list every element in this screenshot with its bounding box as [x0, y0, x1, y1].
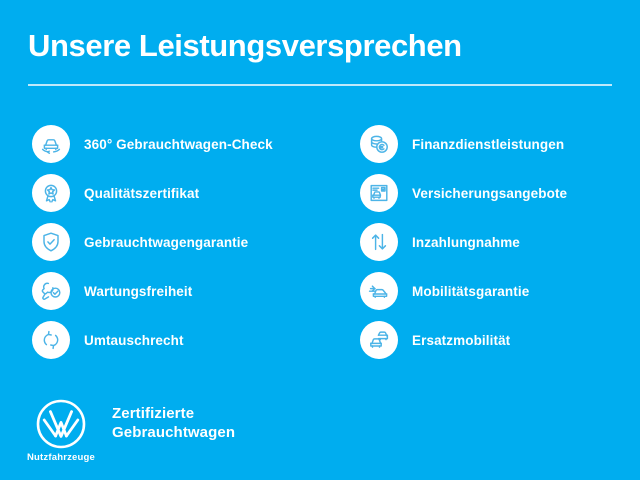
brand-claim-line-2: Gebrauchtwagen: [112, 423, 235, 442]
brand-claim: Zertifizierte Gebrauchtwagen: [112, 404, 235, 442]
title-divider: [28, 84, 612, 86]
feature-label: Finanzdienstleistungen: [412, 137, 564, 152]
feature-label: Versicherungsangebote: [412, 186, 567, 201]
feature-item-trade-in[interactable]: Inzahlungnahme: [360, 222, 567, 262]
feature-item-insurance-offers[interactable]: Versicherungsangebote: [360, 173, 567, 213]
vw-sub-brand-label: Nutzfahrzeuge: [27, 452, 95, 463]
feature-label: Wartungsfreiheit: [84, 284, 192, 299]
shield-check-icon: [32, 223, 70, 261]
feature-item-maintenance-free[interactable]: Wartungsfreiheit: [32, 271, 273, 311]
wrench-check-icon: [32, 272, 70, 310]
feature-item-mobility-guarantee[interactable]: Mobilitätsgarantie: [360, 271, 567, 311]
feature-label: Gebrauchtwagengarantie: [84, 235, 248, 250]
feature-item-financial-services[interactable]: Finanzdienstleistungen: [360, 124, 567, 164]
feature-item-replacement-mobility[interactable]: Ersatzmobilität: [360, 320, 567, 360]
award-rosette-icon: [32, 174, 70, 212]
feature-column-left: 360° Gebrauchtwagen-Check Qualitätszerti…: [32, 124, 273, 369]
brand-lockup: Nutzfahrzeuge Zertifizierte Gebrauchtwag…: [28, 398, 235, 463]
two-cars-icon: [360, 321, 398, 359]
coins-euro-icon: [360, 125, 398, 163]
feature-label: Ersatzmobilität: [412, 333, 510, 348]
volkswagen-logo-icon: [35, 398, 87, 450]
page-title: Unsere Leistungsversprechen: [28, 28, 462, 64]
feature-item-exchange-right[interactable]: Umtauschrecht: [32, 320, 273, 360]
feature-label: Qualitätszertifikat: [84, 186, 199, 201]
promise-slide: Unsere Leistungsversprechen 360° Gebrauc…: [0, 0, 640, 480]
car-clipboard-icon: [360, 174, 398, 212]
car-check-icon: [32, 125, 70, 163]
feature-item-360-check[interactable]: 360° Gebrauchtwagen-Check: [32, 124, 273, 164]
feature-label: Inzahlungnahme: [412, 235, 520, 250]
feature-label: Mobilitätsgarantie: [412, 284, 529, 299]
brand-claim-line-1: Zertifizierte: [112, 404, 235, 423]
feature-item-quality-certificate[interactable]: Qualitätszertifikat: [32, 173, 273, 213]
feature-column-right: Finanzdienstleistungen Versicherungsange…: [360, 124, 567, 369]
vw-logo-block: Nutzfahrzeuge: [28, 398, 94, 463]
feature-item-warranty[interactable]: Gebrauchtwagengarantie: [32, 222, 273, 262]
feature-label: 360° Gebrauchtwagen-Check: [84, 137, 273, 152]
arrows-up-down-icon: [360, 223, 398, 261]
car-arrow-icon: [360, 272, 398, 310]
exchange-arrows-icon: [32, 321, 70, 359]
feature-label: Umtauschrecht: [84, 333, 184, 348]
